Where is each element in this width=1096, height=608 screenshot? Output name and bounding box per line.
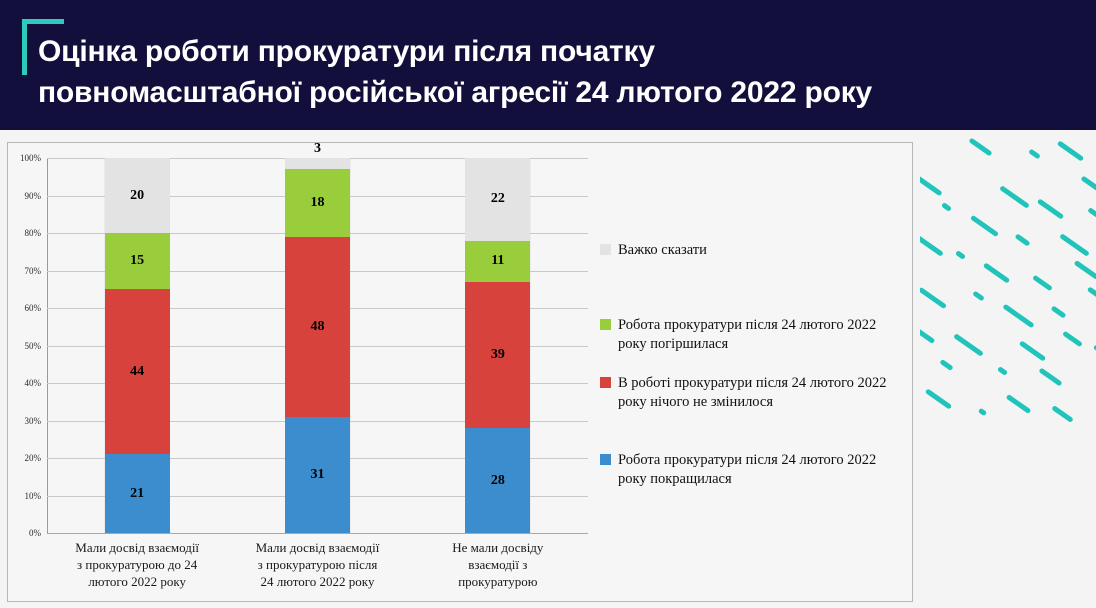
decorative-dash bbox=[941, 202, 952, 212]
decorative-dash bbox=[972, 291, 985, 302]
decorative-dash bbox=[997, 366, 1008, 376]
bar-segment[interactable]: 15 bbox=[105, 233, 170, 289]
x-axis-category-label: Мали досвід взаємодії з прокуратурою піс… bbox=[227, 539, 407, 590]
y-axis-tick-label: 100% bbox=[20, 153, 41, 163]
bar-stack: 21441520 bbox=[105, 158, 170, 533]
decorative-dash bbox=[1080, 175, 1096, 194]
decorative-dash bbox=[1006, 394, 1032, 414]
x-axis: Мали досвід взаємодії з прокуратурою до … bbox=[47, 539, 588, 603]
slide-header: Оцінка роботи прокуратури після початку … bbox=[0, 0, 1096, 130]
decorative-dash bbox=[920, 233, 944, 257]
slide-root: Оцінка роботи прокуратури після початку … bbox=[0, 0, 1096, 608]
legend-label: Важко сказати bbox=[618, 241, 707, 260]
bar-segment[interactable]: 48 bbox=[285, 237, 350, 417]
bar-value-label: 31 bbox=[311, 468, 325, 482]
bar-value-label: 39 bbox=[491, 348, 505, 362]
decorative-dash bbox=[1057, 140, 1084, 161]
bar-value-label: 15 bbox=[130, 254, 144, 268]
plot-area: 21441520314818328391122 bbox=[47, 158, 588, 533]
bar-segment[interactable]: 44 bbox=[105, 289, 170, 454]
decorative-dash bbox=[1051, 305, 1067, 318]
bar-group[interactable]: 21441520 bbox=[105, 158, 170, 533]
bar-value-label: 44 bbox=[130, 365, 144, 379]
decorative-dash bbox=[920, 324, 935, 344]
bar-segment[interactable]: 28 bbox=[465, 428, 530, 533]
y-axis-tick-label: 90% bbox=[25, 191, 42, 201]
bar-value-label: 20 bbox=[130, 189, 144, 203]
decorative-dash bbox=[1051, 405, 1074, 423]
y-axis-tick-label: 80% bbox=[25, 228, 42, 238]
bar-group[interactable]: 3148183 bbox=[285, 158, 350, 533]
x-axis-category-label: Не мали досвіду взаємодії з прокуратурою bbox=[408, 539, 588, 590]
decorative-dash bbox=[1028, 149, 1041, 160]
bar-segment[interactable]: 18 bbox=[285, 169, 350, 237]
legend-color-swatch bbox=[600, 377, 611, 388]
bar-segment[interactable]: 21 bbox=[105, 454, 170, 533]
y-axis-tick-label: 20% bbox=[25, 453, 42, 463]
bar-segment[interactable]: 11 bbox=[465, 241, 530, 282]
decorative-dash bbox=[920, 172, 943, 197]
decorative-dash bbox=[1062, 331, 1083, 348]
decorative-dash bbox=[920, 287, 947, 309]
y-axis-tick-label: 0% bbox=[29, 528, 41, 538]
decorative-dash bbox=[1038, 367, 1062, 386]
decorative-dash bbox=[939, 359, 953, 371]
legend-label: Робота прокуратури після 24 лютого 2022 … bbox=[618, 316, 906, 354]
bar-value-label: 11 bbox=[491, 254, 504, 268]
legend-item[interactable]: В роботі прокуратури після 24 лютого 202… bbox=[600, 374, 906, 412]
decorative-dash bbox=[983, 262, 1010, 283]
decorative-dash bbox=[1059, 233, 1090, 257]
bar-value-label: 22 bbox=[491, 192, 505, 206]
bar-value-label: 3 bbox=[314, 142, 321, 156]
bar-segment[interactable]: 31 bbox=[285, 417, 350, 533]
decorative-dash bbox=[970, 215, 999, 237]
decorative-dash-pattern bbox=[920, 132, 1096, 432]
bar-value-label: 48 bbox=[311, 320, 325, 334]
decorative-dash bbox=[1019, 340, 1046, 361]
bar-segment[interactable]: 22 bbox=[465, 158, 530, 241]
y-axis: 0%10%20%30%40%50%60%70%80%90%100% bbox=[8, 158, 45, 533]
legend-color-swatch bbox=[600, 454, 611, 465]
chart-container: 0%10%20%30%40%50%60%70%80%90%100% 214415… bbox=[7, 142, 913, 602]
bar-segment[interactable]: 20 bbox=[105, 158, 170, 233]
decorative-dash bbox=[1032, 275, 1053, 292]
bar-segment[interactable]: 3 bbox=[285, 158, 350, 169]
page-title: Оцінка роботи прокуратури після початку … bbox=[38, 31, 1068, 113]
bar-stack: 3148183 bbox=[285, 158, 350, 533]
y-axis-tick-label: 10% bbox=[25, 491, 42, 501]
legend-item[interactable]: Робота прокуратури після 24 лютого 2022 … bbox=[600, 451, 906, 489]
legend-label: В роботі прокуратури після 24 лютого 202… bbox=[618, 374, 906, 412]
decorative-dash bbox=[1015, 233, 1031, 246]
bar-stack: 28391122 bbox=[465, 158, 530, 533]
decorative-dash bbox=[978, 408, 987, 417]
decorative-dash bbox=[968, 137, 992, 156]
decorative-dash bbox=[955, 250, 966, 260]
y-axis-tick-label: 60% bbox=[25, 303, 42, 313]
decorative-dash bbox=[1087, 207, 1096, 225]
decorative-dash bbox=[1037, 198, 1064, 219]
bar-value-label: 18 bbox=[311, 196, 325, 210]
y-axis-tick-label: 30% bbox=[25, 416, 42, 426]
legend-item[interactable]: Важко сказати bbox=[600, 241, 707, 260]
y-axis-tick-label: 40% bbox=[25, 378, 42, 388]
bar-value-label: 21 bbox=[130, 487, 144, 501]
bar-value-label: 28 bbox=[491, 474, 505, 488]
decorative-dash bbox=[1002, 304, 1034, 329]
decorative-dash bbox=[1074, 260, 1096, 280]
legend-label: Робота прокуратури після 24 лютого 2022 … bbox=[618, 451, 906, 489]
decorative-dash bbox=[999, 185, 1030, 209]
x-axis-category-label: Мали досвід взаємодії з прокуратурою до … bbox=[47, 539, 227, 590]
legend-color-swatch bbox=[600, 244, 611, 255]
bar-group[interactable]: 28391122 bbox=[465, 158, 530, 533]
gridline bbox=[47, 533, 588, 534]
decorative-dash bbox=[953, 333, 984, 357]
legend-color-swatch bbox=[600, 319, 611, 330]
legend-item[interactable]: Робота прокуратури після 24 лютого 2022 … bbox=[600, 316, 906, 354]
bar-segment[interactable]: 39 bbox=[465, 282, 530, 428]
y-axis-tick-label: 50% bbox=[25, 341, 42, 351]
y-axis-tick-label: 70% bbox=[25, 266, 42, 276]
decorative-dash bbox=[1087, 286, 1096, 307]
decorative-dash bbox=[925, 388, 952, 409]
